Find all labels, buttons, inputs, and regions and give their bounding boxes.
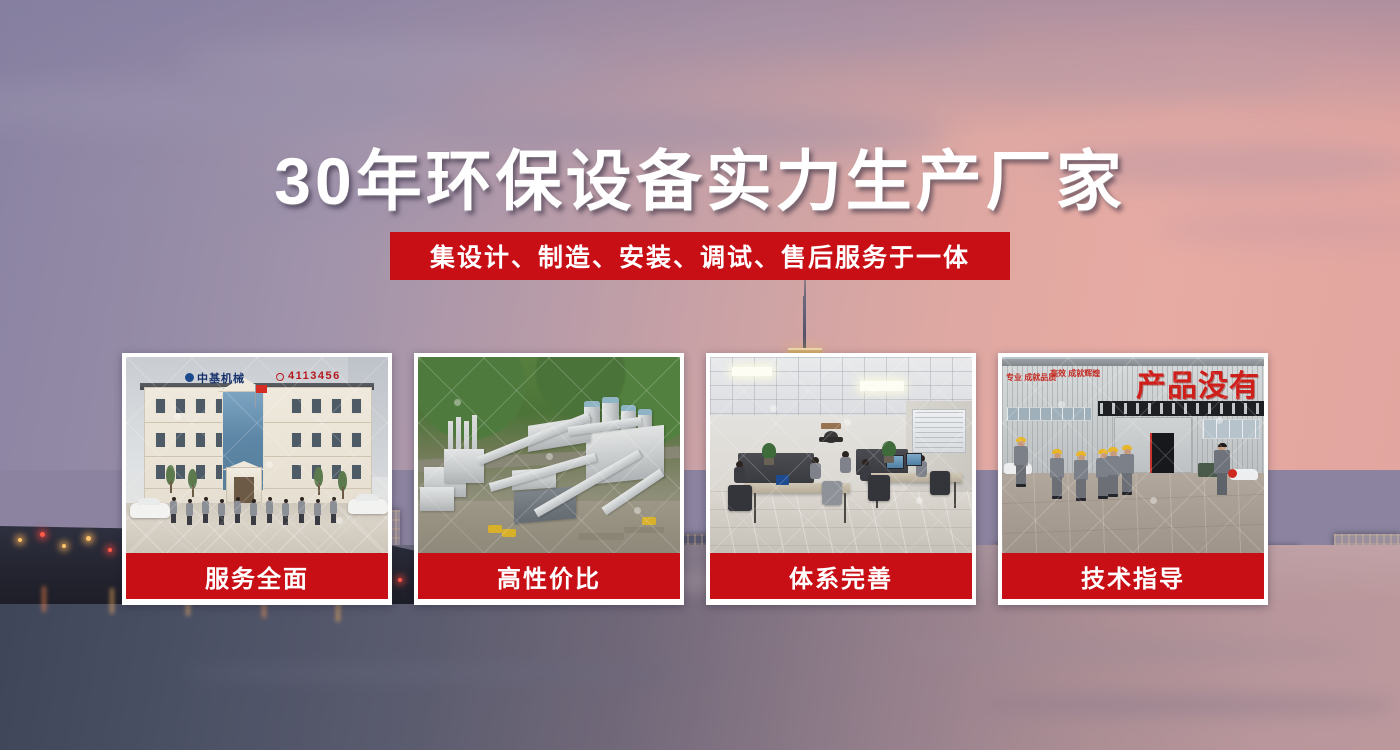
card-photo-office-interior [710,357,972,553]
building-phone-number: 4113456 [288,370,341,382]
factory-wall-slogan-left: 专业 成就品质 [1006,373,1056,382]
factory-wall-slogan-right: 高效 成就辉煌 [1050,369,1100,378]
wall-decal-icon [818,423,844,449]
feature-card[interactable]: 产品没有 专业 成就品质 高效 成就辉煌 [998,353,1268,605]
card-caption-text: 技术指导 [1081,559,1185,594]
factory-wall-text: 产品没有 [1136,361,1260,405]
card-photo-workshop-briefing: 产品没有 专业 成就品质 高效 成就辉煌 [1002,357,1264,553]
promo-banner: 30年环保设备实力生产厂家 集设计、制造、安装、调试、售后服务于一体 [0,0,1400,750]
feature-card[interactable]: 中基机械 4113456 [122,353,392,605]
card-caption-text: 高性价比 [497,559,601,594]
cloud [900,58,1320,98]
page-title: 30年环保设备实力生产厂家 [0,128,1400,224]
card-caption-bar: 技术指导 [1002,553,1264,599]
cloud [180,42,600,80]
flag [256,385,267,393]
cloud [640,18,1000,48]
card-caption-text: 体系完善 [789,559,893,594]
feature-card-row: 中基机械 4113456 [122,353,1278,605]
building-sign-text: 中基机械 [197,370,245,386]
card-photo-plant-aerial [418,357,680,553]
card-photo-office-building: 中基机械 4113456 [126,357,388,553]
subtitle-text: 集设计、制造、安装、调试、售后服务于一体 [430,238,970,274]
feature-card[interactable]: 高性价比 [414,353,684,605]
card-caption-bar: 服务全面 [126,553,388,599]
subtitle-bar: 集设计、制造、安装、调试、售后服务于一体 [390,232,1010,280]
card-caption-bar: 高性价比 [418,553,680,599]
card-caption-bar: 体系完善 [710,553,972,599]
phone-icon [276,373,284,381]
feature-card[interactable]: 体系完善 [706,353,976,605]
red-helmet-icon [1228,469,1237,478]
card-caption-text: 服务全面 [205,559,309,594]
company-logo-icon [185,373,194,382]
